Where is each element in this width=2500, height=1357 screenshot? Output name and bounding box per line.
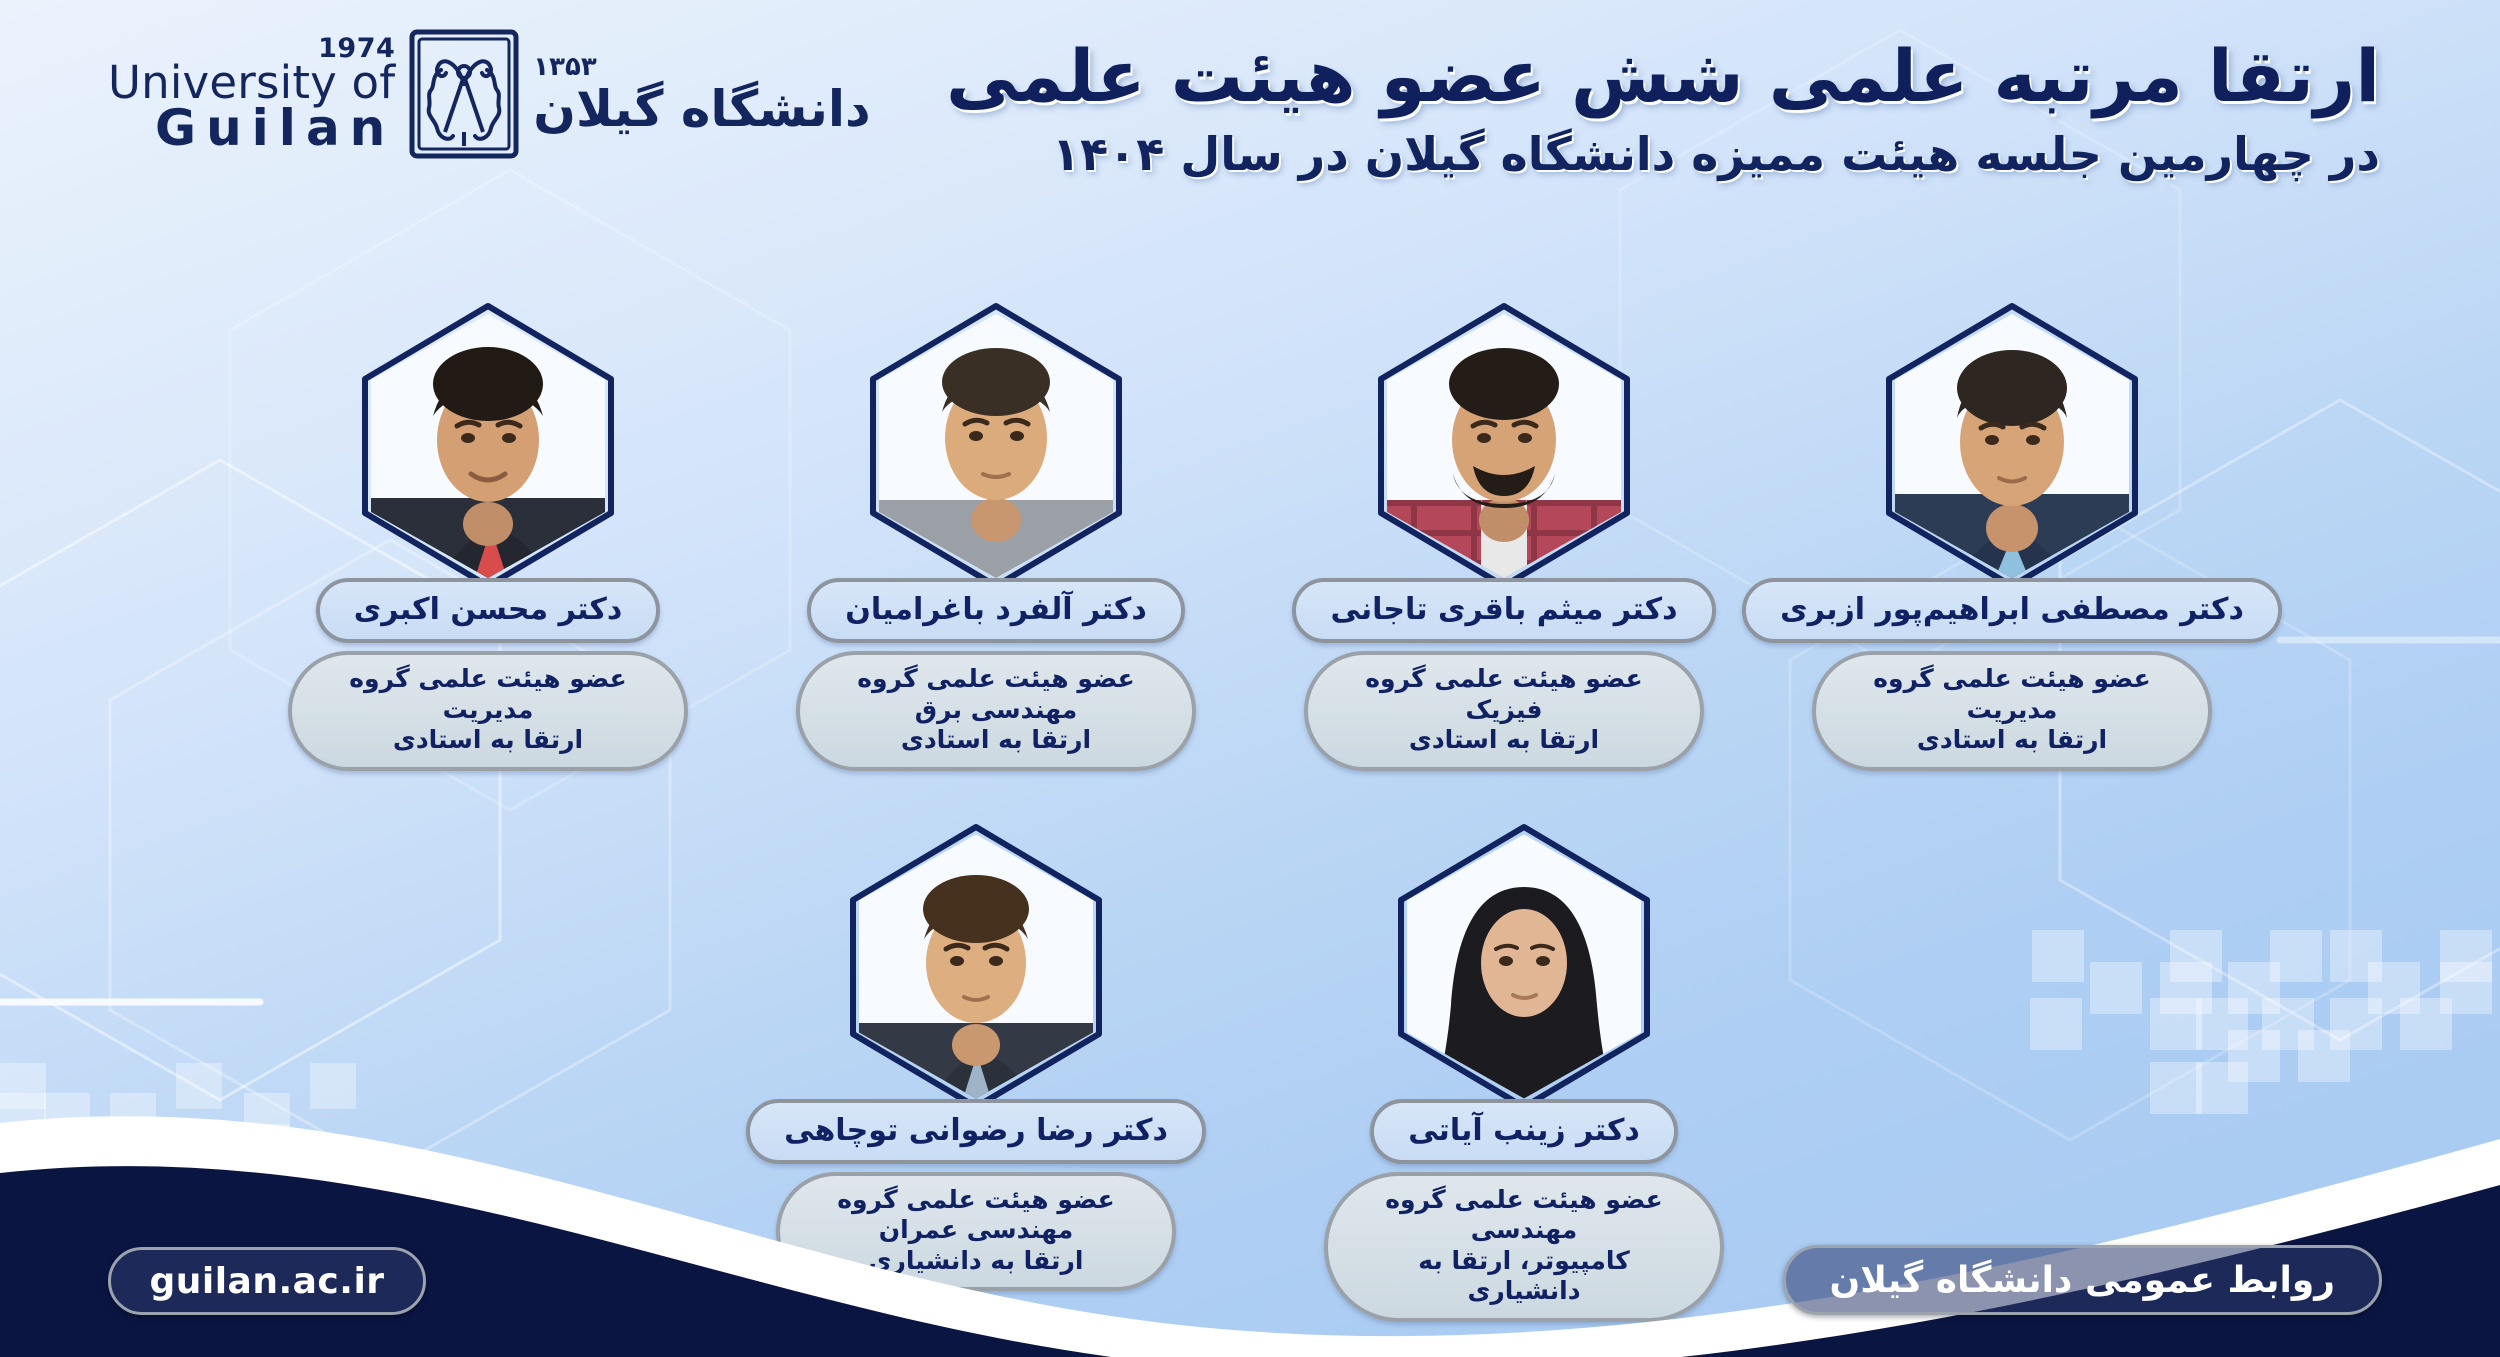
- faculty-name: دکتر مصطفی ابراهیم‌پور ازبری: [1742, 578, 2282, 643]
- poster-header: ۱۳۵۳ دانشگاه گیلان 1974 University of Gu…: [0, 0, 2500, 215]
- portrait-hexagon-frame: [357, 300, 619, 592]
- university-logo: ۱۳۵۳ دانشگاه گیلان 1974 University of Gu…: [108, 28, 871, 160]
- portrait-hexagon-frame: [1881, 300, 2143, 592]
- logo-year-persian: ۱۳۵۳: [533, 54, 870, 80]
- faculty-name: دکتر آلفرد باغرامیان: [807, 578, 1185, 643]
- title-block: ارتقا مرتبه علمی شش عضو هیئت علمی در چها…: [860, 36, 2380, 182]
- guilan-emblem-icon: [405, 28, 523, 160]
- faculty-card-mostafa-ebrahimpour-azbari[interactable]: دکتر مصطفی ابراهیم‌پور ازبری عضو هیئت عل…: [1792, 300, 2232, 771]
- faculty-row-top: دکتر مصطفی ابراهیم‌پور ازبری عضو هیئت عل…: [0, 300, 2500, 771]
- faculty-role: عضو هیئت علمی گروه مهندسی برق ارتقا به ا…: [796, 651, 1196, 771]
- public-relations-chip: روابط عمومی دانشگاه گیلان: [1783, 1245, 2382, 1315]
- portrait-hexagon-frame: [1393, 821, 1655, 1113]
- faculty-name: دکتر رضا رضوانی توچاهی: [746, 1099, 1206, 1164]
- logo-english-block: 1974 University of Guilan: [108, 36, 395, 153]
- faculty-name: دکتر زینب آیاتی: [1370, 1099, 1678, 1164]
- faculty-grid: دکتر مصطفی ابراهیم‌پور ازبری عضو هیئت عل…: [0, 300, 2500, 1322]
- poster-canvas: ۱۳۵۳ دانشگاه گیلان 1974 University of Gu…: [0, 0, 2500, 1357]
- page-subtitle: در چهارمین جلسه هیئت ممیزه دانشگاه گیلان…: [860, 127, 2380, 182]
- portrait-hexagon-frame: [1373, 300, 1635, 592]
- portrait-hexagon-frame: [845, 821, 1107, 1113]
- faculty-name: دکتر میثم باقری تاجانی: [1292, 578, 1715, 643]
- logo-name-persian: دانشگاه گیلان: [533, 84, 870, 134]
- faculty-card-mohsen-akbari[interactable]: دکتر محسن اکبری عضو هیئت علمی گروه مدیری…: [268, 300, 708, 771]
- website-chip[interactable]: guilan.ac.ir: [108, 1247, 426, 1315]
- faculty-role: عضو هیئت علمی گروه مدیریت ارتقا به استاد…: [288, 651, 688, 771]
- faculty-role: عضو هیئت علمی گروه مدیریت ارتقا به استاد…: [1812, 651, 2212, 771]
- faculty-role: عضو هیئت علمی گروه فیزیک ارتقا به استادی: [1304, 651, 1704, 771]
- poster-footer: guilan.ac.ir روابط عمومی دانشگاه گیلان: [0, 1207, 2500, 1357]
- portrait-hexagon-frame: [865, 300, 1127, 592]
- logo-guilan: Guilan: [108, 105, 395, 153]
- logo-persian-block: ۱۳۵۳ دانشگاه گیلان: [533, 54, 870, 134]
- faculty-name: دکتر محسن اکبری: [316, 578, 661, 643]
- page-title: ارتقا مرتبه علمی شش عضو هیئت علمی: [860, 36, 2380, 117]
- faculty-card-meysam-bagheri-tajani[interactable]: دکتر میثم باقری تاجانی عضو هیئت علمی گرو…: [1284, 300, 1724, 771]
- faculty-card-alfred-baghramian[interactable]: دکتر آلفرد باغرامیان عضو هیئت علمی گروه …: [776, 300, 1216, 771]
